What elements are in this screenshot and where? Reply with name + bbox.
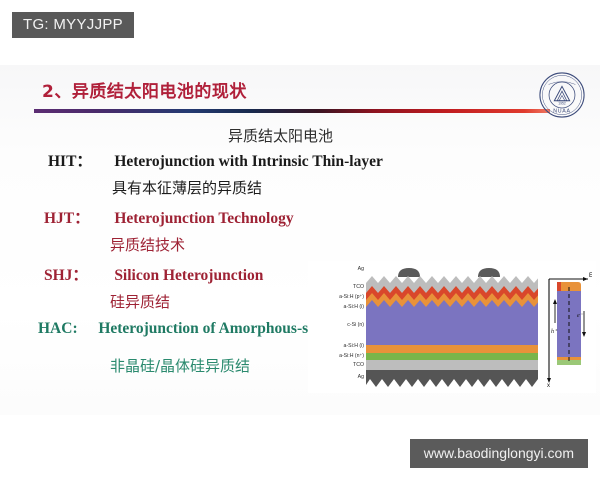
layer-label-asih-n: a-Si:H (n⁺) <box>339 354 364 359</box>
band-energy-diagram: E x h⁺ e⁻ <box>544 271 592 387</box>
layer-label-csi-n: c-Si (n) <box>347 323 364 328</box>
entry-row-hit: HIT： Heterojunction with Intrinsic Thin-… <box>48 149 383 171</box>
layer-label-asih-i-top: a-Si:H (i) <box>344 305 364 310</box>
entry-chinese-hac: 非晶硅/晶体硅异质结 <box>110 355 250 376</box>
layer-label-asih-p: a-Si:H (p⁺) <box>339 295 364 300</box>
hit-cell-diagram: Ag TCO a-Si:H (p⁺) a-Si:H (i) c-Si (n) a… <box>308 261 596 393</box>
entry-row-shj: SHJ： Silicon Heterojunction <box>44 263 263 285</box>
diagram-layer-stack <box>366 267 538 387</box>
heading-chinese: 异质结太阳电池 <box>228 125 333 146</box>
band-hole-label: h⁺ <box>551 328 558 335</box>
tg-watermark-badge: TG: MYYJJPP <box>12 12 134 38</box>
entry-chinese-shj: 硅异质结 <box>110 291 170 312</box>
entry-tag-shj: SHJ： <box>44 263 110 285</box>
band-electron-label: e⁻ <box>577 313 584 319</box>
entry-english-hit: Heterojunction with Intrinsic Thin-layer <box>114 153 383 170</box>
entry-tag-hjt: HJT： <box>44 206 110 228</box>
presentation-slide: 2、异质结太阳电池的现状 1952 NUAA 异质结太阳电池 HIT： Hete… <box>0 65 600 415</box>
entry-chinese-hjt: 异质结技术 <box>110 234 185 255</box>
svg-text:1952: 1952 <box>558 102 566 106</box>
entry-english-hjt: Heterojunction Technology <box>114 210 293 227</box>
site-watermark-badge: www.baodinglongyi.com <box>410 439 588 468</box>
entry-tag-hit: HIT： <box>48 149 110 171</box>
layer-label-ag-top: Ag <box>358 267 364 272</box>
layer-label-tco-bot: TCO <box>353 363 364 368</box>
band-axis-position-label: x <box>547 383 550 387</box>
svg-text:NUAA: NUAA <box>553 108 571 114</box>
entry-row-hjt: HJT： Heterojunction Technology <box>44 206 294 228</box>
diagram-layer-labels: Ag TCO a-Si:H (p⁺) a-Si:H (i) c-Si (n) a… <box>310 261 364 393</box>
layer-label-tco-top: TCO <box>353 285 364 290</box>
entry-tag-hac: HAC: <box>38 320 94 338</box>
layer-label-asih-i-bot: a-Si:H (i) <box>344 344 364 349</box>
layer-label-ag-bot: Ag <box>358 375 364 380</box>
entry-english-shj: Silicon Heterojunction <box>114 267 263 284</box>
title-divider-rule <box>34 109 550 113</box>
nuaa-logo-icon: 1952 NUAA <box>538 71 586 119</box>
band-axis-energy-label: E <box>589 273 592 279</box>
slide-title: 2、异质结太阳电池的现状 <box>42 77 247 102</box>
entry-chinese-hit: 具有本征薄层的异质结 <box>112 177 262 198</box>
